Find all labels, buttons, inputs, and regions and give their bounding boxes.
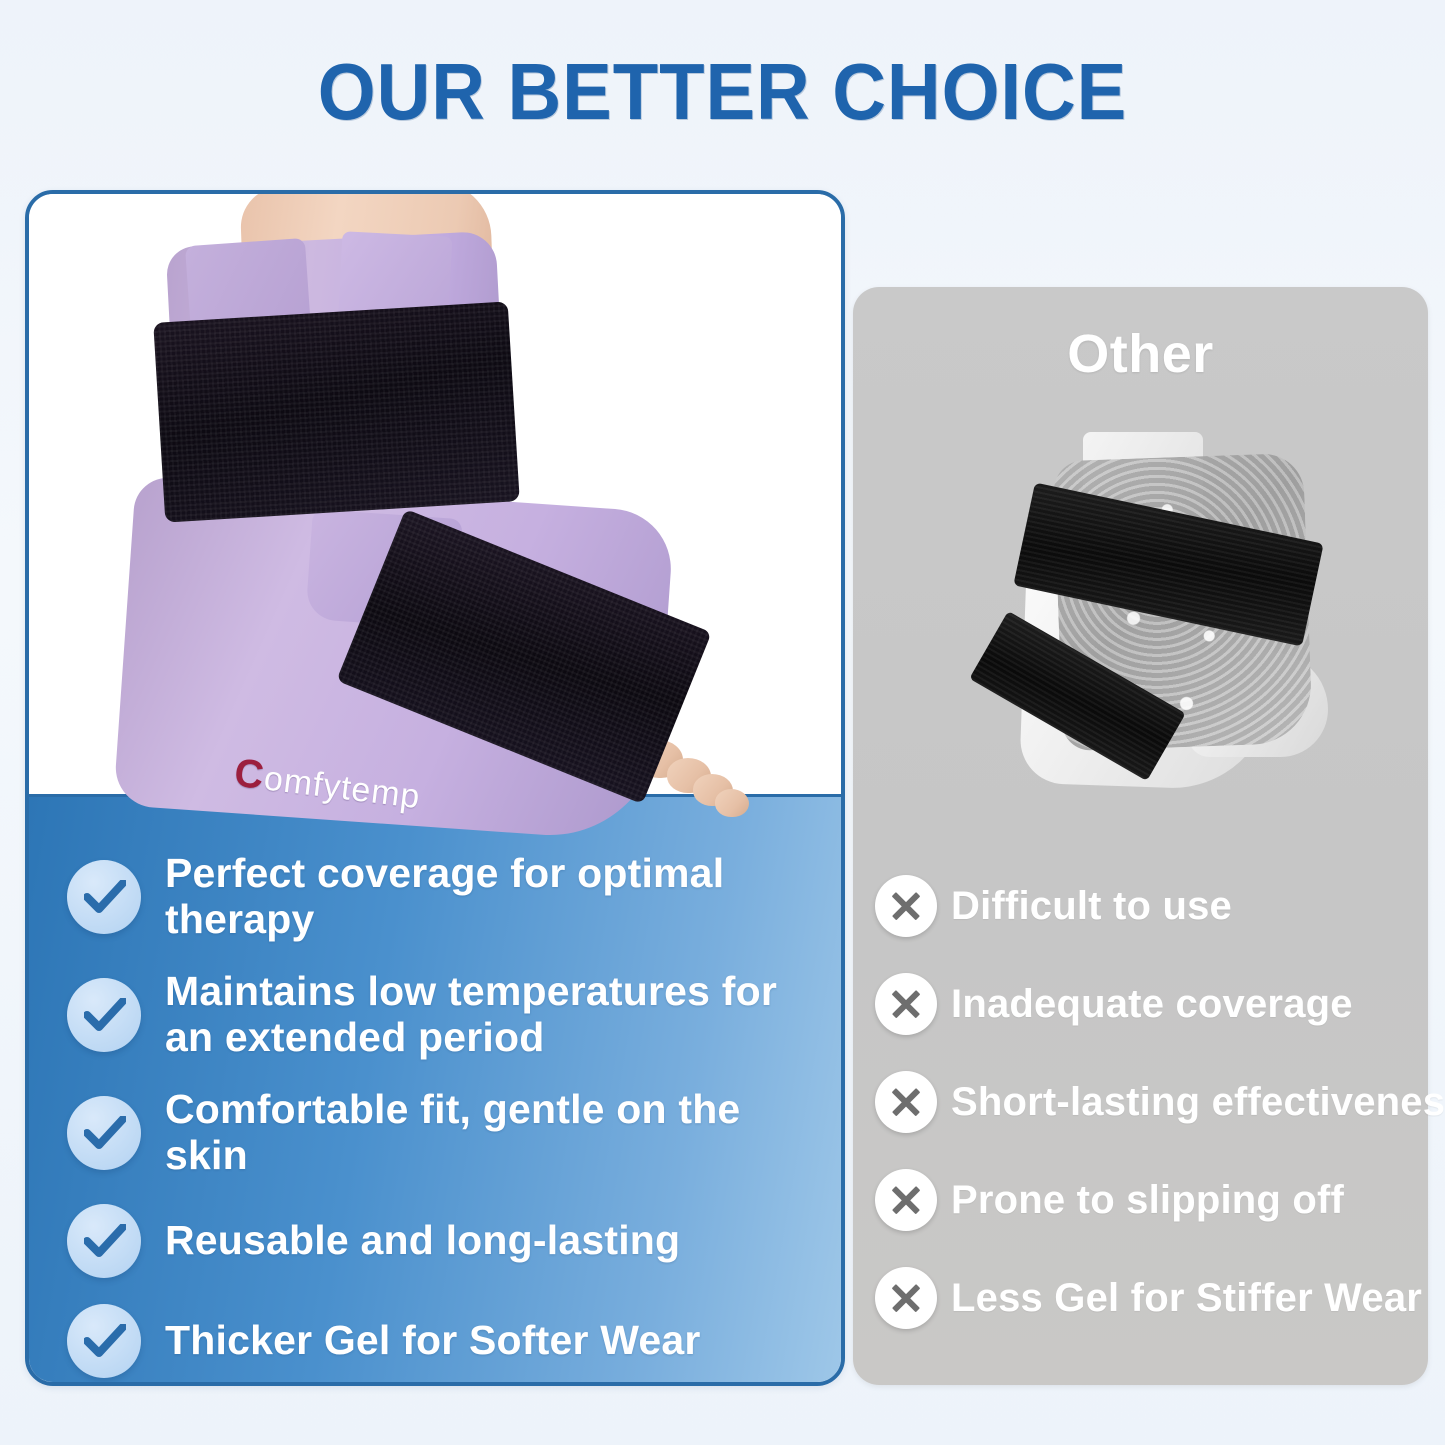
check-icon	[67, 1304, 141, 1378]
drawback-label: Difficult to use	[951, 884, 1232, 929]
drawback-label: Short-lasting effectiveness	[951, 1080, 1445, 1125]
list-item: Reusable and long-lasting	[67, 1204, 827, 1278]
list-item: Thicker Gel for Softer Wear	[67, 1304, 827, 1378]
feature-label: Maintains low temperatures foran extende…	[165, 969, 777, 1061]
list-item: Prone to slipping off	[865, 1151, 1425, 1249]
features-list: Perfect coverage for optimal therapy Mai…	[67, 851, 827, 1386]
feature-label: Perfect coverage for optimal therapy	[165, 851, 827, 943]
list-item: Maintains low temperatures foran extende…	[67, 969, 827, 1061]
x-mark-icon	[875, 1169, 937, 1231]
x-mark-icon	[875, 1267, 937, 1329]
x-mark-icon	[875, 1071, 937, 1133]
list-item: Short-lasting effectiveness	[865, 1053, 1425, 1151]
drawback-label: Less Gel for Stiffer Wear	[951, 1276, 1422, 1321]
feature-label: Thicker Gel for Softer Wear	[165, 1318, 701, 1364]
other-comparison-panel: Other Difficult to use Inadequate covera…	[853, 287, 1428, 1385]
check-icon	[67, 1204, 141, 1278]
drawback-label: Inadequate coverage	[951, 982, 1353, 1027]
list-item: Inadequate coverage	[865, 955, 1425, 1053]
other-product-photo	[983, 407, 1333, 837]
check-icon	[67, 978, 141, 1052]
list-item: Less Gel for Stiffer Wear	[865, 1249, 1425, 1347]
feature-label: Reusable and long-lasting	[165, 1218, 680, 1264]
check-icon	[67, 1096, 141, 1170]
drawback-label: Prone to slipping off	[951, 1178, 1344, 1223]
feature-label: Comfortable fit, gentle on the skin	[165, 1087, 827, 1179]
list-item: Difficult to use	[865, 857, 1425, 955]
our-product-panel: Perfect coverage for optimal therapy Mai…	[25, 190, 845, 1386]
list-item: Perfect coverage for optimal therapy	[67, 851, 827, 943]
check-icon	[67, 860, 141, 934]
list-item: Comfortable fit, gentle on the skin	[67, 1087, 827, 1179]
product-photo-area	[29, 194, 841, 794]
x-mark-icon	[875, 973, 937, 1035]
page-title: OUR BETTER CHOICE	[51, 46, 1395, 138]
x-mark-icon	[875, 875, 937, 937]
drawbacks-list: Difficult to use Inadequate coverage Sho…	[865, 857, 1425, 1347]
features-area: Perfect coverage for optimal therapy Mai…	[29, 794, 841, 1386]
other-panel-title: Other	[853, 323, 1428, 385]
